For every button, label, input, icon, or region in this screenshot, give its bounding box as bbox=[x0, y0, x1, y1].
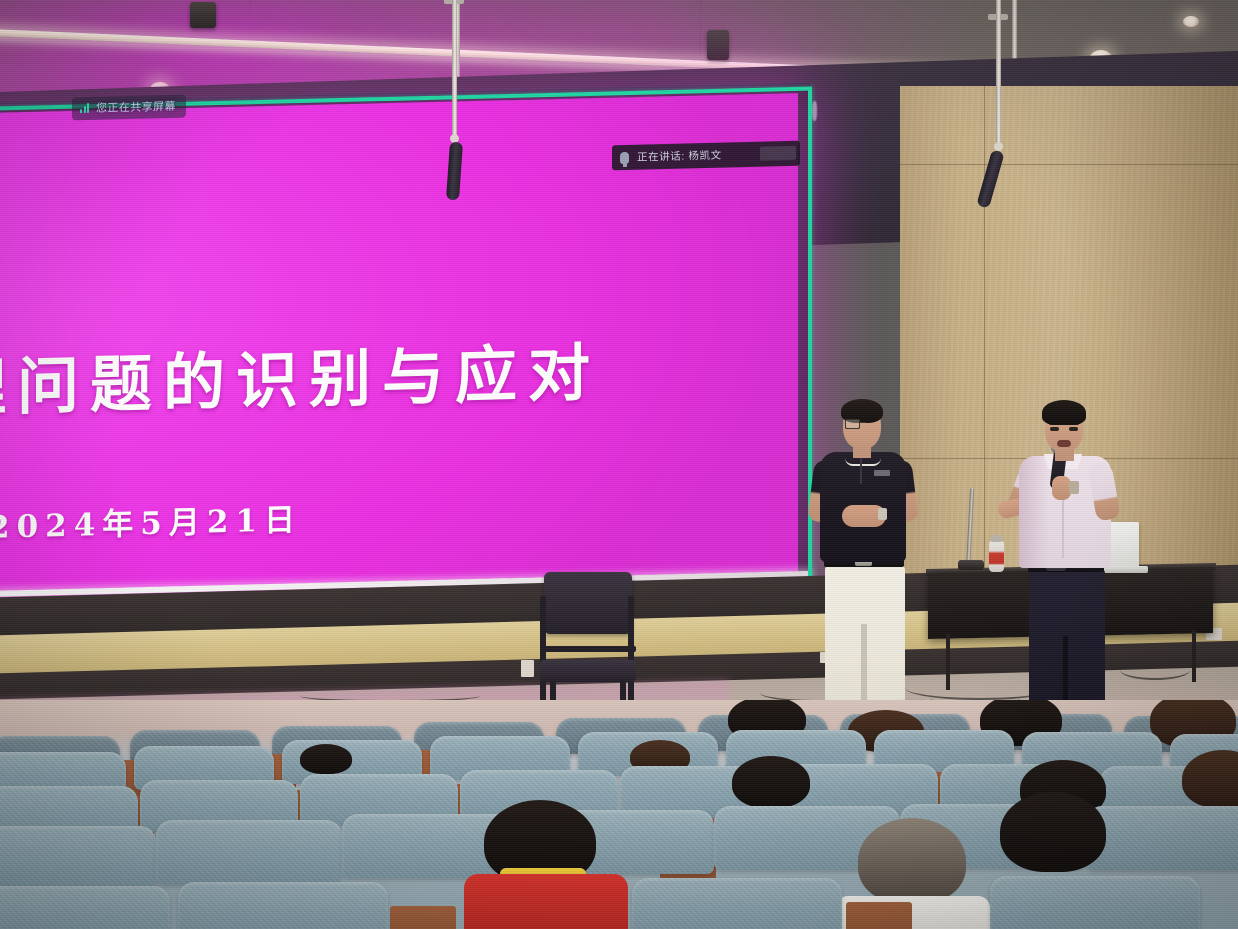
slide-date: 2024年5月21日 bbox=[0, 494, 302, 547]
presenter-right-hair bbox=[1042, 400, 1086, 425]
seat[interactable] bbox=[0, 826, 156, 890]
seat[interactable] bbox=[0, 886, 170, 929]
seat[interactable] bbox=[632, 878, 842, 929]
hanging-microphone bbox=[996, 0, 1026, 210]
seat-side-panel bbox=[846, 902, 912, 929]
screen-sharing-indicator: 您正在共享屏幕 bbox=[72, 95, 186, 121]
chair-backrest bbox=[544, 572, 632, 634]
photo-canvas: 理问题的识别与应对 2024年5月21日 您正在共享屏幕 正在讲话: 杨凯文 bbox=[0, 0, 1238, 929]
presenter-right-torso-shading bbox=[1019, 456, 1049, 568]
presenter-right-mouth bbox=[1057, 440, 1071, 447]
audience-head bbox=[732, 756, 810, 808]
seat[interactable] bbox=[1086, 806, 1238, 870]
audience-head bbox=[1000, 792, 1106, 872]
presenter-left-shirt-logo bbox=[874, 470, 890, 476]
gooseneck-microphone-base bbox=[958, 560, 984, 570]
signal-bars-icon bbox=[80, 103, 89, 113]
seat-side-panel bbox=[390, 906, 456, 929]
presenter-left-placket bbox=[860, 458, 862, 484]
audience-section bbox=[0, 700, 1238, 929]
active-speaker-bar: 正在讲话: 杨凯文 bbox=[612, 141, 800, 171]
chair-seat bbox=[540, 660, 636, 682]
ceiling-projector-box bbox=[190, 2, 216, 28]
slide-title: 理问题的识别与应对 bbox=[0, 322, 601, 428]
floor-cable bbox=[1120, 660, 1190, 680]
seat[interactable] bbox=[990, 876, 1200, 929]
audience-red-shirt bbox=[464, 874, 628, 929]
ceiling-camera-box bbox=[707, 30, 729, 60]
glasses-icon bbox=[845, 419, 879, 427]
seat[interactable] bbox=[178, 882, 388, 929]
audience-head bbox=[858, 818, 966, 904]
presenter-right-wristwatch bbox=[1069, 481, 1079, 494]
wall-outlet[interactable] bbox=[521, 660, 534, 677]
screen-sharing-label: 您正在共享屏幕 bbox=[96, 98, 176, 116]
presenter-left-wristwatch bbox=[878, 508, 887, 520]
water-bottle[interactable] bbox=[989, 541, 1004, 572]
audience-head bbox=[300, 744, 352, 774]
hanging-microphone bbox=[452, 0, 482, 200]
active-speaker-label: 正在讲话: 杨凯文 bbox=[637, 148, 722, 165]
water-bottle-cap bbox=[991, 535, 1002, 542]
microphone-icon bbox=[620, 151, 629, 163]
table-leg bbox=[946, 634, 950, 690]
table-leg bbox=[1192, 630, 1196, 682]
speaker-bar-filler bbox=[760, 146, 796, 161]
seat[interactable] bbox=[156, 820, 342, 884]
ceiling-downlight bbox=[1183, 16, 1199, 27]
